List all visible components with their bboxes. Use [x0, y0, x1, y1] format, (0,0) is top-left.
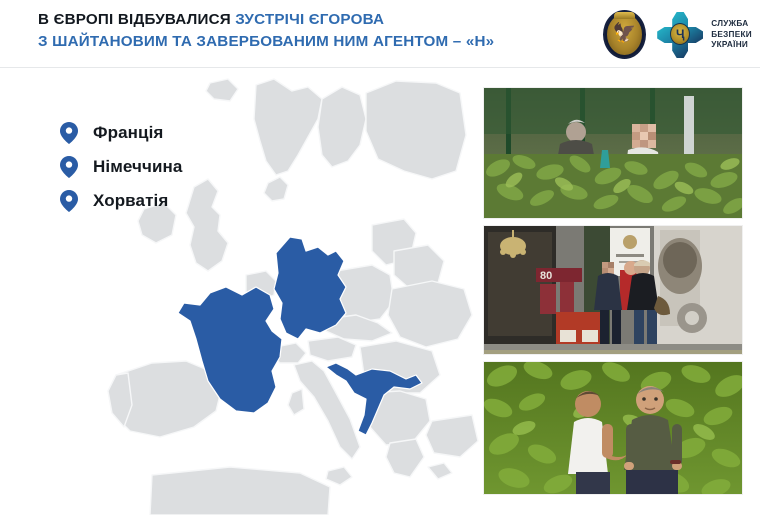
legend-label-croatia: Хорватія [93, 191, 168, 211]
title-line-1: В ЄВРОПІ ВІДБУВАЛИСЯ ЗУСТРІЧІ ЄГОРОВА [38, 9, 494, 31]
header-logos: 🦅 Ҷ СЛУЖБА БЕЗПЕКИ УКРАЇНИ [601, 6, 752, 64]
cross-center-medallion: Ҷ [670, 23, 690, 45]
sbu-logo-text: СЛУЖБА БЕЗПЕКИ УКРАЇНИ [711, 19, 752, 51]
sbu-logo-text-line-1: СЛУЖБА [711, 19, 752, 30]
legend-label-france: Франція [93, 123, 163, 143]
legend-item-france[interactable]: Франція [58, 116, 182, 150]
surveillance-photo-street-walking[interactable]: 80 [484, 226, 742, 354]
country-germany [274, 237, 346, 339]
title-line-2: З ШАЙТАНОВИМ ТА ЗАВЕРБОВАНИМ НИМ АГЕНТОМ… [38, 31, 494, 53]
infographic-page: В ЄВРОПІ ВІДБУВАЛИСЯ ЗУСТРІЧІ ЄГОРОВА З … [0, 0, 760, 526]
map-pin-icon [58, 121, 80, 145]
sbu-logo-text-line-3: УКРАЇНИ [711, 40, 752, 51]
surveillance-photo-garden-conversation[interactable] [484, 362, 742, 494]
map-pin-icon [58, 189, 80, 213]
military-intelligence-eagle-emblem-icon: 🦅 [601, 9, 649, 61]
trident-icon: Ҷ [671, 26, 689, 43]
legend-label-germany: Німеччина [93, 157, 182, 177]
map-pin-icon [58, 155, 80, 179]
page-title: В ЄВРОПІ ВІДБУВАЛИСЯ ЗУСТРІЧІ ЄГОРОВА З … [38, 9, 494, 53]
country-legend: Франція Німеччина Хорватія [58, 116, 182, 218]
legend-item-croatia[interactable]: Хорватія [58, 184, 182, 218]
title-line-1-blue: ЗУСТРІЧІ ЄГОРОВА [235, 11, 384, 28]
title-line-1-dark: В ЄВРОПІ ВІДБУВАЛИСЯ [38, 11, 235, 28]
eagle-icon: 🦅 [612, 22, 637, 46]
legend-item-germany[interactable]: Німеччина [58, 150, 182, 184]
svg-text:80: 80 [540, 270, 552, 282]
page-header: В ЄВРОПІ ВІДБУВАЛИСЯ ЗУСТРІЧІ ЄГОРОВА З … [0, 0, 760, 68]
emblem-top-cap [614, 12, 635, 19]
surveillance-photo-hedge-meeting[interactable] [484, 88, 742, 218]
sbu-cross-emblem-icon: Ҷ [657, 11, 703, 59]
sbu-logo-text-line-2: БЕЗПЕКИ [711, 30, 752, 41]
